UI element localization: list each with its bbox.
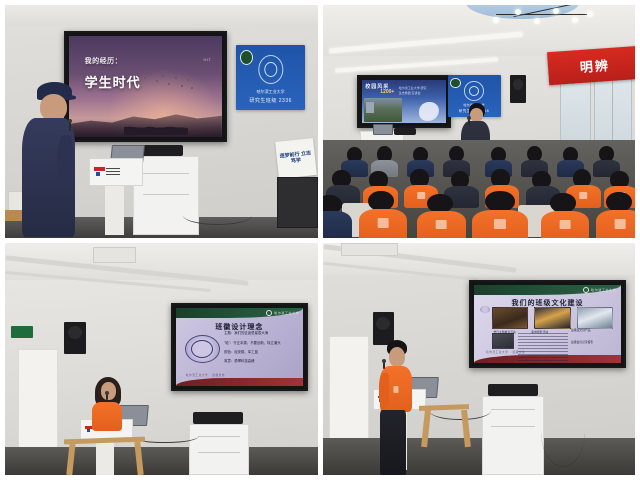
cabinet [189, 424, 248, 475]
head [389, 347, 406, 367]
slide-footnote: 哈尔滨工业大学 · 班级文化 [186, 373, 225, 377]
calligraphy-text: 逐梦前行 立志笃学 [278, 151, 312, 165]
arm [379, 373, 389, 408]
slide-document-list [518, 333, 568, 349]
slide-logo-text: 哈尔滨工业大学 [591, 288, 616, 292]
ceiling-chandelier [491, 5, 597, 33]
university-emblem-icon [258, 55, 283, 84]
equipment-case [277, 177, 318, 228]
slide-thumbnail [534, 307, 570, 329]
ceiling [5, 5, 318, 26]
wall-display: 校园风采 1200+ 哈尔滨工业大学 研究生支教团 宣讲会 [357, 75, 451, 128]
banner-line-1: 哈尔滨工业大学 [257, 89, 285, 95]
ceiling-vent [93, 247, 137, 263]
window [560, 79, 591, 144]
slide-thumbnail [492, 307, 528, 329]
microphone-icon [468, 119, 470, 126]
podium-stem [105, 186, 124, 235]
banner-line-2: 研究生班级 2336 [249, 97, 292, 104]
photo-collage: 我的经历： 学生时代 HIT 哈尔滨工业大学 研究生班级 2336 逐梦前行 立… [0, 0, 640, 480]
projector [193, 412, 243, 424]
slide-graphic-blob [419, 102, 439, 121]
slide-line-3: 颜色：经安稳、军工蓝 [224, 351, 297, 354]
banner-seal-icon [450, 78, 461, 88]
projector [488, 384, 538, 396]
slide-caption-4: 班级会议记录留影 [571, 340, 593, 344]
slide-body-list: 主题：我们的征途是星辰大海 "哈"：守正本源、不要创新、特立潮头 颜色：经安稳、… [224, 332, 297, 370]
slide-bottom-bar [176, 378, 304, 386]
slide-number: 1200+ [380, 89, 394, 95]
door [18, 349, 59, 458]
university-emblem-icon [464, 81, 484, 101]
presenter-person [379, 340, 417, 475]
podium-stem [96, 440, 115, 475]
floor [323, 438, 636, 475]
collage-photo-top-left: 我的经历： 学生时代 HIT 哈尔滨工业大学 研究生班级 2336 逐梦前行 立… [5, 5, 318, 238]
microphone-icon [106, 394, 108, 400]
collage-photo-bottom-right: 哈尔滨工业大学 我们的班级文化建设 党日主题教育活 [323, 243, 636, 476]
slide-caption-2: 集体观影活动 [531, 330, 548, 334]
class-emblem-icon [185, 335, 220, 364]
slide-line-4: 寓意：勇攀科技高峰 [224, 360, 297, 363]
class-emblem-icon [480, 306, 490, 313]
slide-caption-3: 班级班文创产品 [571, 328, 591, 332]
blue-class-banner: 哈尔滨工业大学 研究生班级 2336 [236, 45, 305, 110]
red-banner: 明辨 [546, 46, 635, 85]
slide-corner-logo: HIT [204, 57, 212, 62]
power-cable [541, 396, 585, 467]
exit-sign [11, 326, 33, 338]
arm [57, 135, 74, 188]
slide-campus-poster: 校园风采 1200+ 哈尔滨工业大学 研究生支教团 宣讲会 [362, 80, 446, 123]
calligraphy-poster: 逐梦前行 立志笃学 [275, 138, 316, 179]
logo-mark-icon [583, 287, 589, 293]
collage-photo-top-right: 明辨 校园风采 1200+ 哈尔滨工业大学 研究生支教团 宣讲会 [323, 5, 636, 238]
slide-body: 哈尔滨工业大学 研究生支教团 宣讲会 [399, 86, 427, 96]
slide-footnote: 哈尔滨工业大学 · 班级文化 [486, 350, 525, 354]
wall-speaker [510, 75, 526, 103]
slide-line-2: "哈"：守正本源、不要创新、特立潮头 [224, 342, 297, 345]
legs [380, 410, 406, 475]
audience-row-front [323, 191, 636, 238]
wall-display: 哈尔滨工业大学 班徽设计理念 主题：我们的征途是星辰大海 "哈"：守正本源、不要… [171, 303, 309, 391]
microphone-icon [69, 122, 71, 131]
slide-people-silhouette [124, 109, 188, 135]
projector [394, 128, 416, 135]
slide-thumbnail [577, 307, 613, 329]
head [40, 94, 67, 120]
slide-heading: 我的经历： [85, 56, 123, 66]
presenter-person [21, 82, 96, 238]
red-banner-text: 明辨 [579, 55, 610, 76]
slide-university-logo: 哈尔滨工业大学 [583, 287, 616, 293]
slide-caption-1: 党日主题教育活动 [493, 330, 515, 334]
slide-line-1: 主题：我们的征途是星辰大海 [224, 332, 297, 335]
floor [5, 447, 318, 475]
logo-mark-icon [266, 310, 272, 316]
cabinet [482, 396, 545, 475]
ceiling-vent [341, 243, 397, 257]
collage-photo-bottom-left: 哈尔滨工业大学 班徽设计理念 主题：我们的征途是星辰大海 "哈"：守正本源、不要… [5, 243, 318, 476]
banner-seal-icon [240, 50, 253, 65]
power-cable [183, 205, 252, 225]
presenter-person [89, 377, 127, 428]
wall-speaker [64, 322, 86, 355]
laptop [373, 124, 394, 135]
door [329, 336, 370, 452]
slide-city-photo [364, 98, 403, 122]
slide-thumbnail [492, 333, 514, 349]
slide-thumbnail-row [492, 307, 613, 329]
microphone-icon [383, 362, 385, 369]
slide-class-culture: 哈尔滨工业大学 我们的班级文化建设 党日主题教育活 [474, 285, 620, 363]
wall-display: 哈尔滨工业大学 我们的班级文化建设 党日主题教育活 [469, 280, 625, 368]
podium [89, 158, 142, 186]
cabinet [133, 156, 199, 235]
slide-logo-text: 哈尔滨工业大学 [274, 311, 299, 315]
podium-logo [94, 167, 120, 176]
slide-class-emblem: 哈尔滨工业大学 班徽设计理念 主题：我们的征途是星辰大海 "哈"：守正本源、不要… [176, 308, 304, 386]
slide-university-logo: 哈尔滨工业大学 [266, 310, 299, 316]
slide-birds [143, 70, 195, 92]
torso [92, 402, 122, 431]
